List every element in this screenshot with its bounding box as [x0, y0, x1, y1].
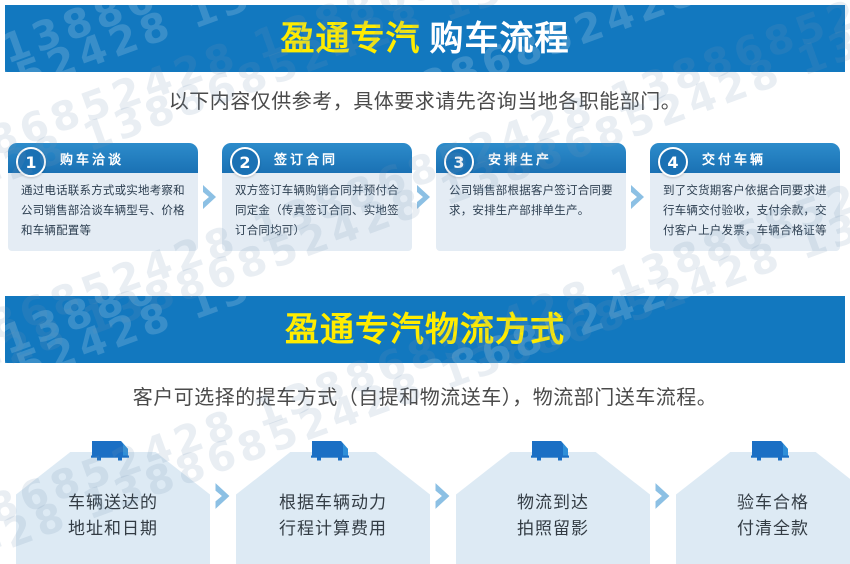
logistics-card-4-line1: 验车合格 — [676, 490, 850, 516]
step-card-1[interactable]: 购车洽谈 1 通过电话联系方式或实地考察和公司销售部洽谈车辆型号、价格和车辆配置… — [8, 143, 198, 251]
step-arrow-3 — [626, 143, 650, 251]
logistics-card-2[interactable]: 根据车辆动力 行程计算费用 — [236, 438, 430, 564]
step-number-badge-1: 1 — [16, 147, 46, 177]
logistics-card-3-line2: 拍照留影 — [456, 516, 650, 542]
step-number-badge-4: 4 — [658, 147, 688, 177]
step-card-4[interactable]: 交付车辆 4 到了交货期客户依据合同要求进行车辆交付验收，支付余款，交付客户上户… — [650, 143, 840, 251]
page-root: 13886852428 13886852428 13886852428 1388… — [0, 0, 850, 564]
logistics-card-1-line1: 车辆送达的 — [16, 490, 210, 516]
logistics-card-1-line2: 地址和日期 — [16, 516, 210, 542]
logistics-card-4[interactable]: 验车合格 付清全款 — [676, 438, 850, 564]
section1-banner: 13886852428 13886852428 13886852428 1388… — [5, 5, 845, 72]
chevron-right-icon — [414, 183, 434, 211]
logistics-steps-row: 车辆送达的 地址和日期 根据车辆动力 行程计算费用 — [0, 430, 850, 564]
section2-banner-title: 盈通专汽 物流方式 — [5, 296, 845, 363]
step-card-2[interactable]: 签订合同 2 双方签订车辆购销合同并预付合同定金（传真签订合同、实地签订合同均可… — [222, 143, 412, 251]
logistics-card-1[interactable]: 车辆送达的 地址和日期 — [16, 438, 210, 564]
logistics-card-2-text: 根据车辆动力 行程计算费用 — [236, 490, 430, 543]
step-card-4-title: 交付车辆 — [702, 143, 834, 173]
section1-title-text: 购车流程 — [430, 22, 570, 56]
chevron-right-icon — [652, 481, 674, 511]
section2-brand-text: 盈通专汽 — [285, 313, 425, 347]
logistics-card-1-text: 车辆送达的 地址和日期 — [16, 490, 210, 543]
logistics-arrow-2 — [430, 438, 456, 564]
truck-icon — [310, 438, 356, 464]
step-card-1-body: 通过电话联系方式或实地考察和公司销售部洽谈车辆型号、价格和车辆配置等 — [8, 171, 198, 251]
logistics-card-2-line1: 根据车辆动力 — [236, 490, 430, 516]
logistics-card-3-line1: 物流到达 — [456, 490, 650, 516]
truck-icon — [750, 438, 796, 464]
purchase-steps-row: 购车洽谈 1 通过电话联系方式或实地考察和公司销售部洽谈车辆型号、价格和车辆配置… — [8, 143, 842, 253]
step-card-1-title: 购车洽谈 — [60, 143, 192, 173]
step-number-badge-3: 3 — [444, 147, 474, 177]
truck-icon — [90, 438, 136, 464]
chevron-right-icon — [432, 481, 454, 511]
step-card-3[interactable]: 安排生产 3 公司销售部根据客户签订合同要求，安排生产部排单生产。 — [436, 143, 626, 251]
section2-subtitle: 客户可选择的提车方式（自提和物流送车），物流部门送车流程。 — [0, 381, 850, 410]
section1-brand-text: 盈通专汽 — [281, 22, 421, 56]
chevron-right-icon — [200, 183, 220, 211]
step-card-3-body: 公司销售部根据客户签订合同要求，安排生产部排单生产。 — [436, 171, 626, 251]
logistics-card-2-line2: 行程计算费用 — [236, 516, 430, 542]
logistics-card-3-text: 物流到达 拍照留影 — [456, 490, 650, 543]
logistics-card-4-line2: 付清全款 — [676, 516, 850, 542]
step-arrow-1 — [198, 143, 222, 251]
section2-title-text: 物流方式 — [425, 313, 565, 347]
chevron-right-icon — [212, 481, 234, 511]
step-card-4-body: 到了交货期客户依据合同要求进行车辆交付验收，支付余款，交付客户上户发票，车辆合格… — [650, 171, 840, 251]
logistics-arrow-3 — [650, 438, 676, 564]
section2-banner: 13886852428 13886852428 13886852428 1388… — [5, 296, 845, 363]
step-arrow-2 — [412, 143, 436, 251]
step-card-3-title: 安排生产 — [488, 143, 620, 173]
step-number-badge-2: 2 — [230, 147, 260, 177]
step-card-2-body: 双方签订车辆购销合同并预付合同定金（传真签订合同、实地签订合同均可） — [222, 171, 412, 251]
section1-banner-title: 盈通专汽 购车流程 — [5, 5, 845, 72]
step-card-2-title: 签订合同 — [274, 143, 406, 173]
logistics-card-4-text: 验车合格 付清全款 — [676, 490, 850, 543]
truck-icon — [530, 438, 576, 464]
logistics-arrow-1 — [210, 438, 236, 564]
section1-subtitle: 以下内容仅供参考，具体要求请先咨询当地各职能部门。 — [0, 85, 850, 114]
logistics-card-3[interactable]: 物流到达 拍照留影 — [456, 438, 650, 564]
chevron-right-icon — [628, 183, 648, 211]
